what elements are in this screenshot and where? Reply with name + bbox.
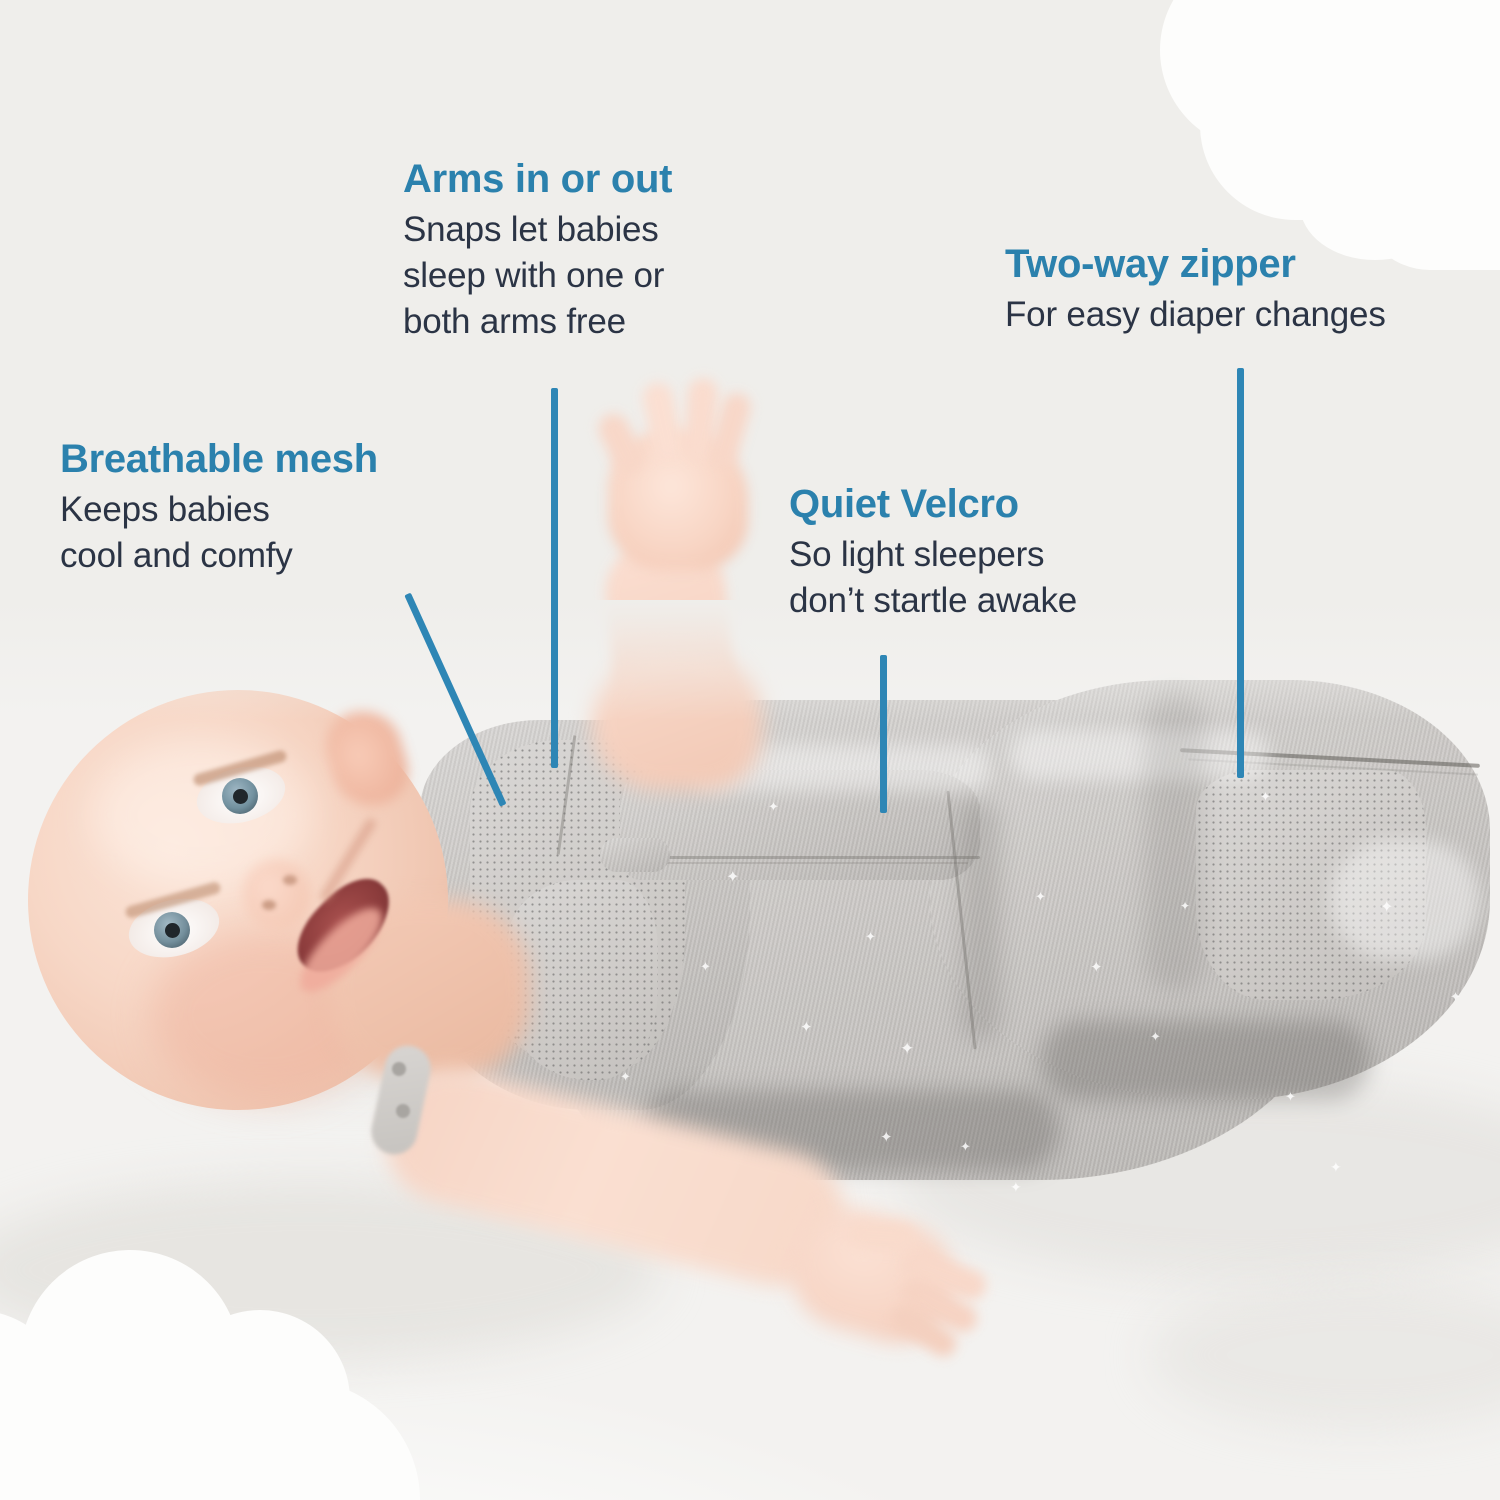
star-print: ✦	[1285, 1090, 1296, 1103]
cloud-base	[0, 1380, 420, 1500]
snap-button	[392, 1062, 406, 1076]
callout-title: Arms in or out	[403, 155, 672, 203]
baby-pupil	[233, 789, 248, 804]
callout-breathable-mesh: Breathable mesh Keeps babies cool and co…	[60, 435, 378, 579]
star-print: ✦	[1035, 890, 1046, 903]
callout-arms-in-or-out: Arms in or out Snaps let babies sleep wi…	[403, 155, 672, 345]
leader-line-quiet-velcro	[880, 655, 887, 813]
star-print: ✦	[800, 1020, 813, 1035]
snap-button	[396, 1104, 410, 1118]
velcro-tab	[600, 838, 670, 872]
velcro-flap-seam	[628, 856, 980, 859]
callout-body-line: Snaps let babies	[403, 207, 672, 253]
photo-vignette	[0, 600, 1500, 720]
callout-title: Two-way zipper	[1005, 240, 1386, 288]
star-print: ✦	[1450, 990, 1461, 1003]
callout-body: So light sleepers don’t startle awake	[789, 532, 1077, 624]
star-print: ✦	[1150, 1030, 1161, 1043]
product-feature-infographic: ✦ ✦ ✦ ✦ ✦ ✦ ✦ ✦ ✦ ✦ ✦ ✦ ✦ ✦ ✦ ✦ ✦ ✦ ✦ ✦	[0, 0, 1500, 1500]
callout-title: Breathable mesh	[60, 435, 378, 483]
baby-nostril	[283, 875, 297, 885]
callout-body-line: sleep with one or	[403, 253, 672, 299]
star-print: ✦	[960, 1140, 971, 1153]
mesh-panel-side	[508, 880, 658, 1080]
fabric-highlight	[1330, 840, 1480, 960]
product-photo: ✦ ✦ ✦ ✦ ✦ ✦ ✦ ✦ ✦ ✦ ✦ ✦ ✦ ✦ ✦ ✦ ✦ ✦ ✦ ✦	[0, 0, 1500, 1500]
baby-nostril	[262, 900, 276, 910]
callout-body: Keeps babies cool and comfy	[60, 487, 378, 579]
star-print: ✦	[768, 800, 779, 813]
callout-body-line: don’t startle awake	[789, 578, 1077, 624]
star-print: ✦	[1260, 790, 1271, 803]
callout-body-line: Keeps babies	[60, 487, 378, 533]
callout-body-line: So light sleepers	[789, 532, 1077, 578]
velcro-flap-edge-seam	[628, 862, 968, 864]
callout-body: For easy diaper changes	[1005, 292, 1386, 338]
star-print: ✦	[1010, 1180, 1022, 1194]
callout-body: Snaps let babies sleep with one or both …	[403, 207, 672, 345]
callout-body-line: For easy diaper changes	[1005, 292, 1386, 338]
star-print: ✦	[726, 870, 739, 886]
callout-title: Quiet Velcro	[789, 480, 1077, 528]
callout-two-way-zipper: Two-way zipper For easy diaper changes	[1005, 240, 1386, 338]
star-print: ✦	[700, 960, 711, 973]
star-print: ✦	[620, 1070, 631, 1083]
leader-line-arms-in-or-out	[551, 388, 558, 768]
star-print: ✦	[900, 1040, 914, 1057]
fabric-shadow	[960, 800, 1000, 1040]
fabric-shadow	[1145, 690, 1205, 990]
star-print: ✦	[1180, 900, 1190, 912]
callout-quiet-velcro: Quiet Velcro So light sleepers don’t sta…	[789, 480, 1077, 624]
fabric-shadow	[1040, 1020, 1370, 1100]
star-print: ✦	[1380, 900, 1393, 916]
star-print: ✦	[1090, 960, 1103, 975]
fabric-highlight	[1010, 730, 1270, 780]
callout-body-line: both arms free	[403, 299, 672, 345]
star-print: ✦	[880, 1130, 893, 1145]
baby-pupil	[165, 923, 180, 938]
star-print: ✦	[1330, 1160, 1342, 1174]
callout-body-line: cool and comfy	[60, 533, 378, 579]
leader-line-two-way-zipper	[1237, 368, 1244, 778]
baby-extended-thumb	[845, 1220, 917, 1253]
star-print: ✦	[865, 930, 876, 943]
